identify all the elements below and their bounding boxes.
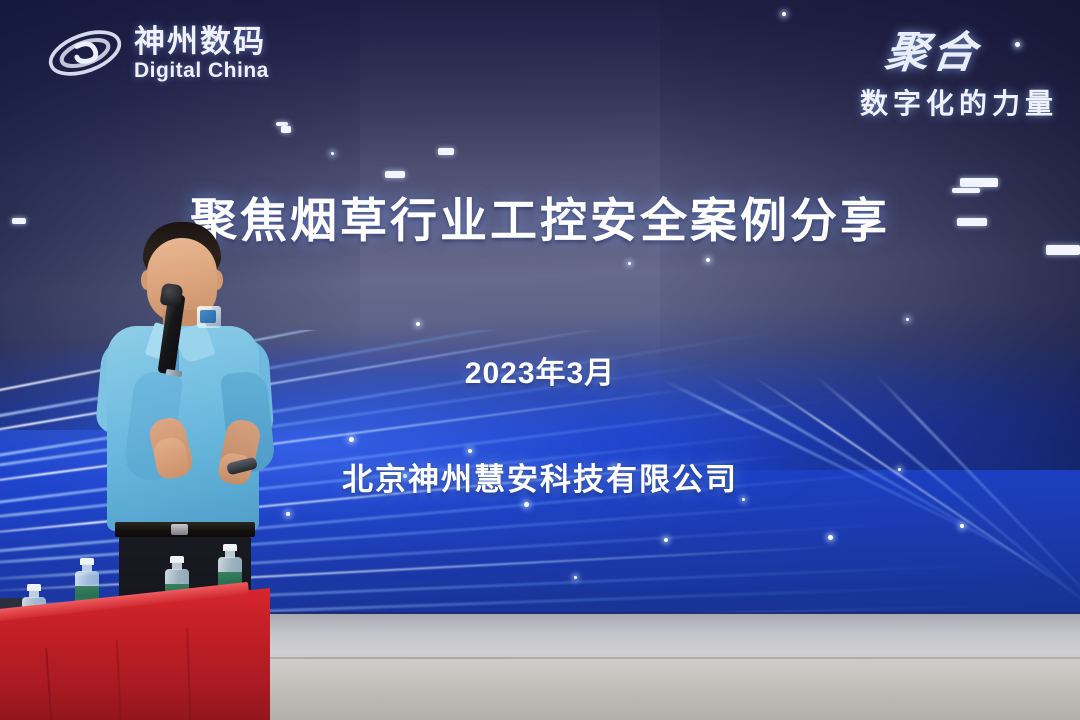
particle-dot: [960, 524, 964, 528]
logo-name-en: Digital China: [134, 60, 269, 81]
particle-dot: [286, 512, 290, 516]
front-row-table: [0, 556, 280, 720]
particle-dash: [438, 148, 454, 155]
particle-dot: [349, 437, 354, 442]
particle-dash: [385, 171, 405, 178]
microphone-head-icon: [160, 283, 184, 308]
event-logo-tagline: 数字化的力量: [798, 82, 1058, 122]
particle-dot: [628, 262, 631, 265]
particle-dash: [281, 126, 291, 133]
event-logo: 聚合 数字化的力量: [798, 18, 1058, 122]
stage-photo: 神州数码 Digital China 聚合 数字化的力量 聚焦烟草行业工控安全案…: [0, 0, 1080, 720]
shirt-logo-emblem-icon: [200, 310, 216, 323]
particle-dot: [524, 502, 529, 507]
logo-name-cn: 神州数码: [134, 26, 269, 57]
particle-dot: [828, 535, 833, 540]
speaker-belt-buckle: [171, 524, 188, 535]
digital-china-swirl-icon: [44, 22, 126, 84]
particle-dot: [906, 318, 909, 321]
particle-dot: [468, 449, 472, 453]
event-logo-calligraphy: 聚合: [882, 18, 1062, 80]
particle-dot: [782, 12, 786, 16]
particle-dot: [706, 258, 710, 262]
particle-dot: [331, 152, 334, 155]
digital-china-logo: 神州数码 Digital China: [44, 22, 269, 84]
particle-dot: [416, 322, 420, 326]
particle-dot: [574, 576, 577, 579]
particle-dot: [664, 538, 668, 542]
